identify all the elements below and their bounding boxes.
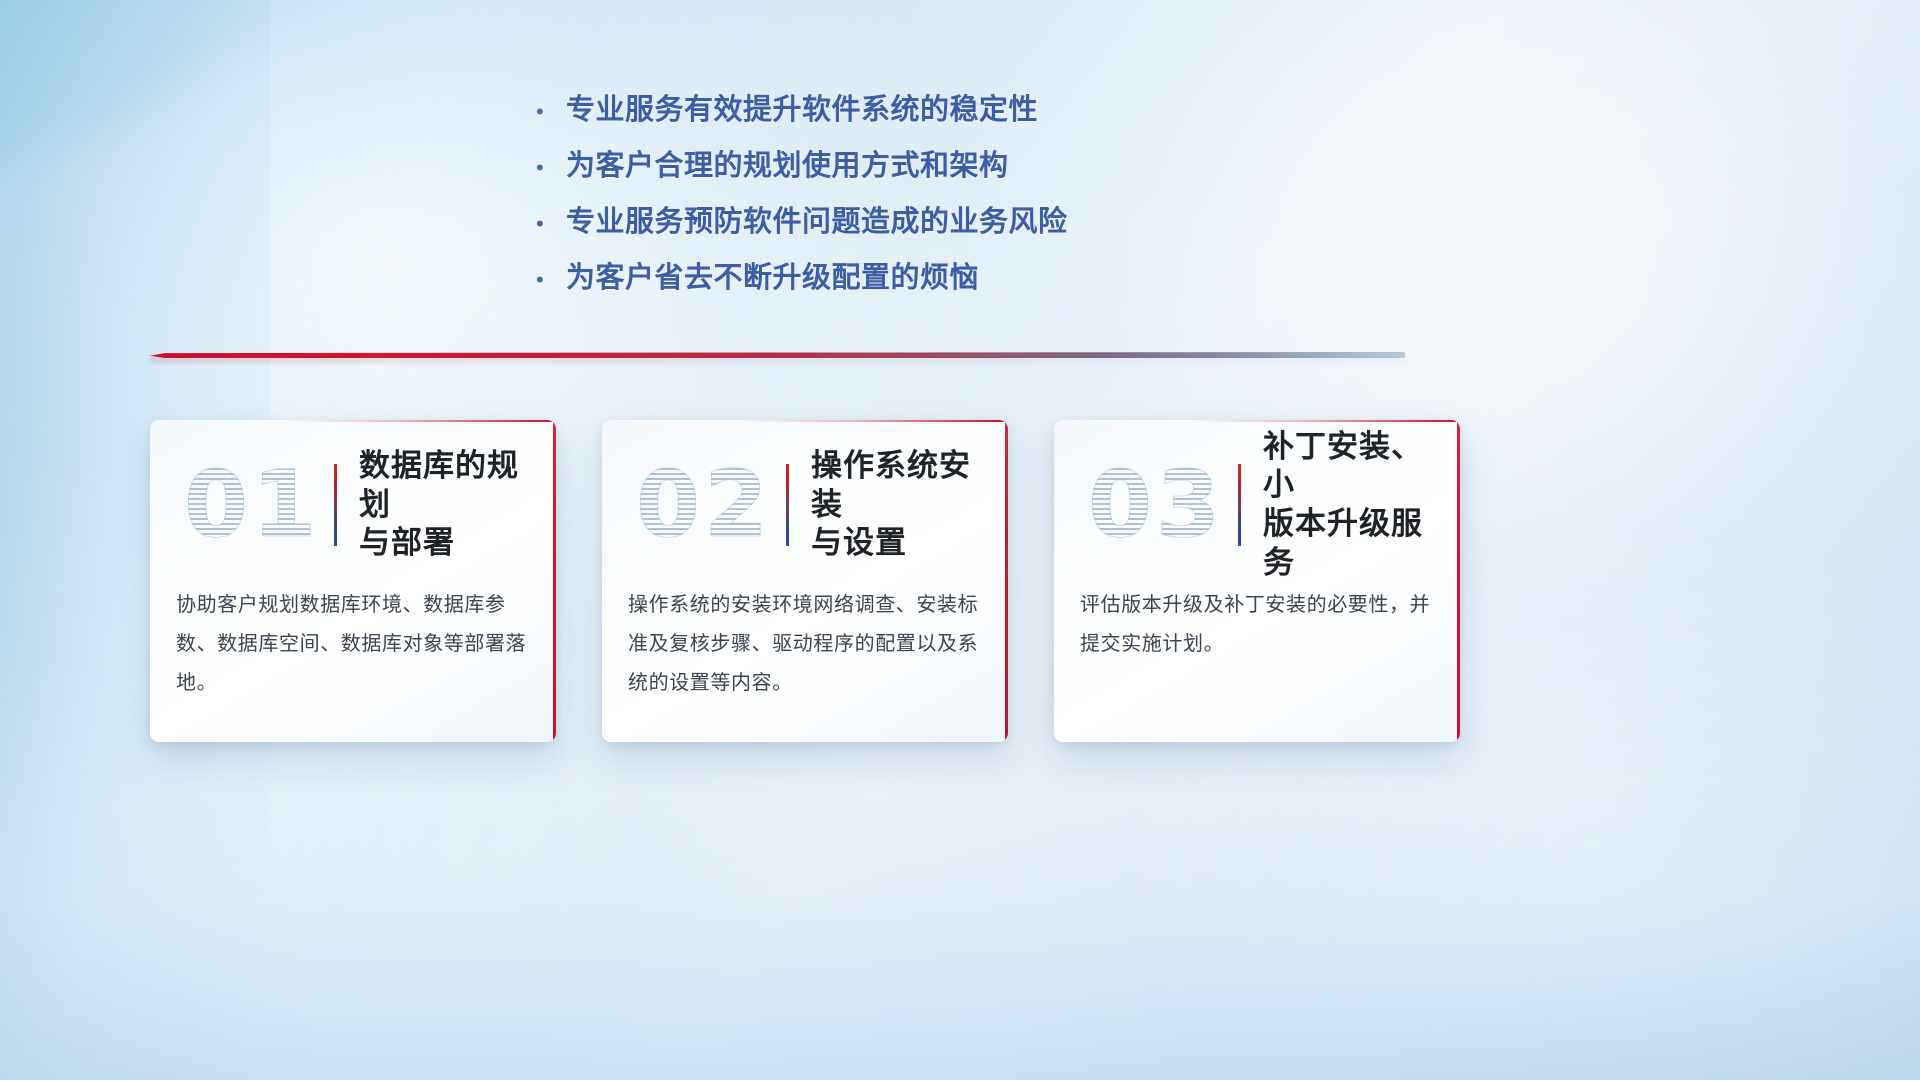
background-band-bottom xyxy=(0,780,1920,1080)
card-header: 01 数据库的规划 与部署 xyxy=(176,450,530,560)
card-body-text: 评估版本升级及补丁安装的必要性，并提交实施计划。 xyxy=(1080,586,1434,664)
card-title-divider xyxy=(786,464,789,546)
card-body-text: 协助客户规划数据库环境、数据库参数、数据库空间、数据库对象等部署落地。 xyxy=(176,586,530,703)
card-title-divider xyxy=(1238,464,1241,546)
bullet-list: • 专业服务有效提升软件系统的稳定性 • 为客户合理的规划使用方式和架构 • 专… xyxy=(536,92,1436,316)
service-card-01[interactable]: 01 数据库的规划 与部署 协助客户规划数据库环境、数据库参数、数据库空间、数据… xyxy=(150,420,556,742)
list-item: • 为客户合理的规划使用方式和架构 xyxy=(536,148,1436,185)
card-title: 数据库的规划 与部署 xyxy=(359,447,530,563)
service-card-02[interactable]: 02 操作系统安装 与设置 操作系统的安装环境网络调查、安装标准及复核步骤、驱动… xyxy=(602,420,1008,742)
bullet-text: 专业服务有效提升软件系统的稳定性 xyxy=(566,92,1038,129)
section-divider xyxy=(150,348,1405,362)
card-body-text: 操作系统的安装环境网络调查、安装标准及复核步骤、驱动程序的配置以及系统的设置等内… xyxy=(628,586,982,703)
card-number: 01 xyxy=(176,453,328,557)
card-number: 03 xyxy=(1080,453,1232,557)
slide-canvas: • 专业服务有效提升软件系统的稳定性 • 为客户合理的规划使用方式和架构 • 专… xyxy=(0,0,1920,1080)
bullet-dot-icon: • xyxy=(536,269,566,291)
bullet-text: 为客户合理的规划使用方式和架构 xyxy=(566,148,1009,185)
card-header: 03 补丁安装、小 版本升级服务 xyxy=(1080,450,1434,560)
card-title: 操作系统安装 与设置 xyxy=(811,447,982,563)
service-card-03[interactable]: 03 补丁安装、小 版本升级服务 评估版本升级及补丁安装的必要性，并提交实施计划… xyxy=(1054,420,1460,742)
card-group: 01 数据库的规划 与部署 协助客户规划数据库环境、数据库参数、数据库空间、数据… xyxy=(150,420,1460,750)
bullet-dot-icon: • xyxy=(536,157,566,179)
card-title-divider xyxy=(334,464,337,546)
list-item: • 为客户省去不断升级配置的烦恼 xyxy=(536,260,1436,297)
section-divider-line xyxy=(150,352,1405,358)
card-number: 02 xyxy=(628,453,780,557)
card-title: 补丁安装、小 版本升级服务 xyxy=(1263,428,1434,583)
list-item: • 专业服务预防软件问题造成的业务风险 xyxy=(536,204,1436,241)
list-item: • 专业服务有效提升软件系统的稳定性 xyxy=(536,92,1436,129)
bullet-text: 为客户省去不断升级配置的烦恼 xyxy=(566,260,979,297)
bullet-dot-icon: • xyxy=(536,213,566,235)
bullet-text: 专业服务预防软件问题造成的业务风险 xyxy=(566,204,1068,241)
bullet-dot-icon: • xyxy=(536,101,566,123)
card-header: 02 操作系统安装 与设置 xyxy=(628,450,982,560)
